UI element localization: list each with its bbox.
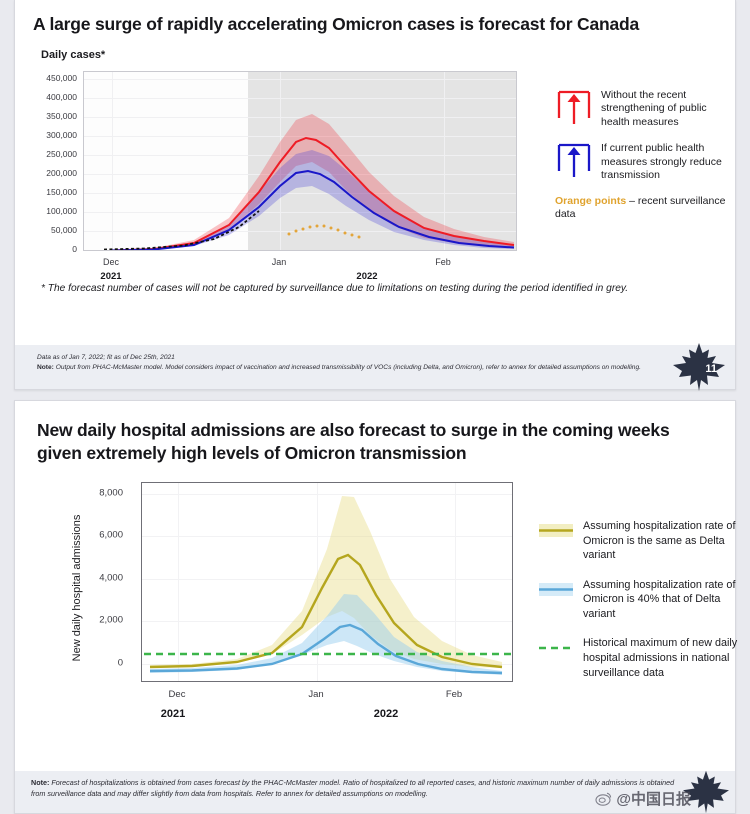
weibo-watermark: @中国日报 (595, 788, 691, 809)
x-tick-dec-2: Dec (169, 689, 186, 700)
note-text-slide1: Output from PHAC-McMaster model. Model c… (54, 364, 641, 371)
blue-band-line-icon (539, 580, 573, 600)
slide-omicron-cases: A large surge of rapidly accelerating Om… (14, 0, 736, 390)
plot-area-daily-cases (83, 71, 517, 251)
legend-label-historical-max: Historical maximum of new daily hospital… (583, 636, 739, 680)
y-tick-50000: 50,000 (15, 225, 77, 235)
yellow-band-line-icon (539, 521, 573, 541)
page-title-2: New daily hospital admissions are also f… (15, 401, 735, 466)
note-block-slide2: Note: Forecast of hospitalizations is ob… (15, 771, 735, 813)
y-tick-250000: 250,000 (15, 149, 77, 159)
slide-deck-page: A large surge of rapidly accelerating Om… (0, 0, 750, 814)
x-year-2021: 2021 (100, 271, 121, 282)
legend-label-with-measures: If current public health measures strong… (601, 141, 735, 182)
y-tick-200000: 200,000 (15, 168, 77, 178)
y-tick-4000: 4,000 (67, 572, 123, 583)
plot-area-hospital-admissions (141, 482, 513, 682)
note-label-slide2: Note: (31, 778, 49, 787)
legend-label-orange-points: Orange points (555, 195, 626, 207)
maple-leaf-icon (671, 341, 727, 393)
x-year-2021-2: 2021 (161, 708, 185, 720)
source-data-as-of: Data as of Jan 7, 2022; fit as of Dec 25… (37, 353, 721, 363)
legend-hospital-admissions: Assuming hospitalization rate of Omicron… (539, 519, 739, 695)
note-label-slide1: Note: (37, 364, 54, 371)
x-tick-jan: Jan (272, 257, 287, 267)
y-tick-350000: 350,000 (15, 111, 77, 121)
slide-hospital-admissions: New daily hospital admissions are also f… (14, 400, 736, 814)
y-tick-100000: 100,000 (15, 206, 77, 216)
watermark-text: @中国日报 (616, 788, 691, 809)
y-tick-6000: 6,000 (67, 529, 123, 540)
legend-label-without-measures: Without the recent strengthening of publ… (601, 88, 735, 129)
note-line-slide2: Note: Forecast of hospitalizations is ob… (31, 778, 675, 800)
y-tick-2000: 2,000 (67, 614, 123, 625)
y-tick-300000: 300,000 (15, 130, 77, 140)
series-curves-daily-cases (84, 72, 517, 251)
red-up-arrow-box-icon (555, 88, 593, 126)
chart-caption-daily-cases: Daily cases* (15, 35, 735, 61)
legend-daily-cases: Without the recent strengthening of publ… (555, 88, 735, 222)
y-tick-0: 0 (67, 657, 123, 668)
weibo-logo-icon (595, 790, 613, 808)
orange-surveillance-points (288, 225, 361, 239)
green-dashed-line-icon (539, 638, 573, 658)
series-curves-hospital (142, 483, 513, 682)
y-tick-400000: 400,000 (15, 92, 77, 102)
legend-item-historical-max[interactable]: Historical maximum of new daily hospital… (539, 636, 739, 680)
x-tick-feb-2: Feb (446, 689, 462, 700)
y-tick-450000: 450,000 (15, 73, 77, 83)
page-number-badge: 11 (705, 363, 717, 375)
x-tick-dec: Dec (103, 257, 119, 267)
y-tick-8000: 8,000 (67, 487, 123, 498)
page-title: A large surge of rapidly accelerating Om… (15, 0, 735, 35)
blue-up-arrow-box-icon (555, 141, 593, 179)
legend-label-40pct-rate: Assuming hospitalization rate of Omicron… (583, 578, 739, 622)
y-tick-0: 0 (15, 244, 77, 254)
x-year-2022-2: 2022 (374, 708, 398, 720)
legend-item-40pct-rate[interactable]: Assuming hospitalization rate of Omicron… (539, 578, 739, 622)
legend-item-with-measures[interactable]: If current public health measures strong… (555, 141, 735, 182)
legend-label-delta-rate: Assuming hospitalization rate of Omicron… (583, 519, 739, 563)
note-text-slide2: Forecast of hospitalizations is obtained… (31, 778, 674, 798)
x-tick-feb: Feb (435, 257, 451, 267)
legend-item-orange-points: Orange points – recent surveillance data (555, 195, 735, 222)
y-tick-150000: 150,000 (15, 187, 77, 197)
x-year-2022: 2022 (356, 271, 377, 282)
legend-item-without-measures[interactable]: Without the recent strengthening of publ… (555, 88, 735, 129)
source-block-slide1: Data as of Jan 7, 2022; fit as of Dec 25… (15, 345, 735, 389)
legend-item-delta-rate[interactable]: Assuming hospitalization rate of Omicron… (539, 519, 739, 563)
source-note-slide1: Note: Output from PHAC-McMaster model. M… (37, 363, 721, 373)
x-tick-jan-2: Jan (308, 689, 323, 700)
